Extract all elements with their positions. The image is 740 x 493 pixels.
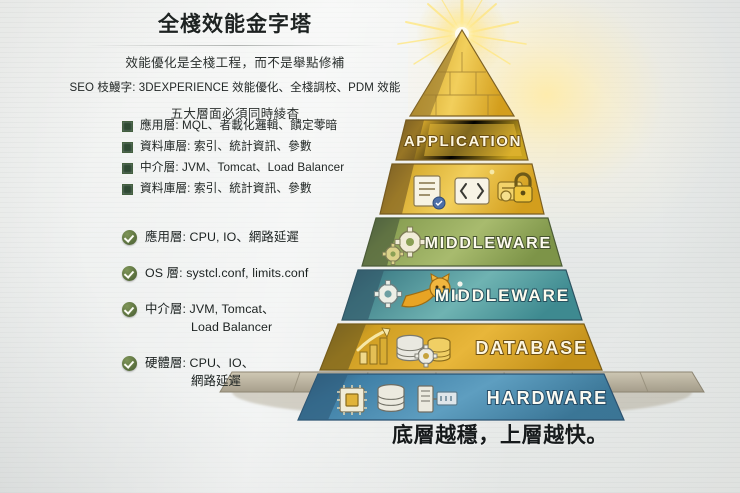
list-item: 應用層: CPU, IO、網路延遲 [122,228,382,246]
list-item-label: 應用層: MQL、者載化邏輯、饋定蕶暗 [140,117,337,134]
list-item-label: OS 層: systcl.conf, limits.conf [145,264,308,282]
list-item: 中介層: JVM, Tomcat、 Load Balancer [122,300,382,336]
tier-label-middleware-teal: MIDDLEWARE [435,286,570,305]
list-item-label: 中介層: JVM、Tomcat、Load Balancer [140,159,344,176]
infographic-canvas: APPLICATION MIDDLEWARE MIDDLEWARE DATABA… [0,0,740,493]
list-item: 資料庫層: 索引、統計資訊、參數 [122,138,422,155]
list-item-line1: 應用層: CPU, IO、網路延遲 [145,230,299,244]
check-circle-icon [122,302,137,317]
check-circle-icon [122,356,137,371]
check-circle-icon [122,230,137,245]
list-item-line1: 硬體層: CPU、IO、 [145,356,254,370]
list-item-label: 資料庫層: 索引、統計資訊、參數 [140,180,312,197]
square-bullet-icon [122,121,133,132]
list-item-line2: 網路延遲 [145,372,254,390]
list-item-label: 中介層: JVM, Tomcat、 Load Balancer [145,300,275,336]
tier-label-hardware: HARDWARE [487,388,608,408]
list-item-label: 硬體層: CPU、IO、 網路延遲 [145,354,254,390]
list-item: 硬體層: CPU、IO、 網路延遲 [122,354,382,390]
check-circle-icon [122,266,137,281]
tier-label-database: DATABASE [475,338,588,358]
header-subtitle: 效能優化是全棧工程，而不是舉點修補 [20,52,450,71]
list-item-line1: 中介層: JVM, Tomcat、 [145,302,275,316]
list-item: 應用層: MQL、者載化邏輯、饋定蕶暗 [122,117,422,134]
header-seo-line: SEO 枝鰻字: 3DEXPERIENCE 效能優化、全棧調校、PDM 效能 [20,79,450,95]
list-item: 資料庫層: 索引、統計資訊、參數 [122,180,422,197]
list-item: 中介層: JVM、Tomcat、Load Balancer [122,159,422,176]
list-item-label: 應用層: CPU, IO、網路延遲 [145,228,299,246]
footer-caption: 底層越穩，上層越快。 [350,419,650,449]
square-bullet-icon [122,184,133,195]
code-brackets-icon [455,178,489,204]
square-bullet-icon [122,163,133,174]
square-bullet-list: 應用層: MQL、者載化邏輯、饋定蕶暗 資料庫層: 索引、統計資訊、參數 中介層… [122,117,422,201]
tier-label-middleware-green: MIDDLEWARE [425,235,552,252]
page-title: 全棧效能金字塔 [20,8,450,38]
list-item-line1: OS 層: systcl.conf, limits.conf [145,266,308,280]
list-item-label: 資料庫層: 索引、統計資訊、參數 [140,138,312,155]
list-item: OS 層: systcl.conf, limits.conf [122,264,382,282]
square-bullet-icon [122,142,133,153]
title-divider [85,45,385,46]
check-list: 應用層: CPU, IO、網路延遲 OS 層: systcl.conf, lim… [122,228,382,408]
header-block: 全棧效能金字塔 效能優化是全棧工程，而不是舉點修補 SEO 枝鰻字: 3DEXP… [20,8,450,122]
list-item-line2: Load Balancer [145,318,275,336]
